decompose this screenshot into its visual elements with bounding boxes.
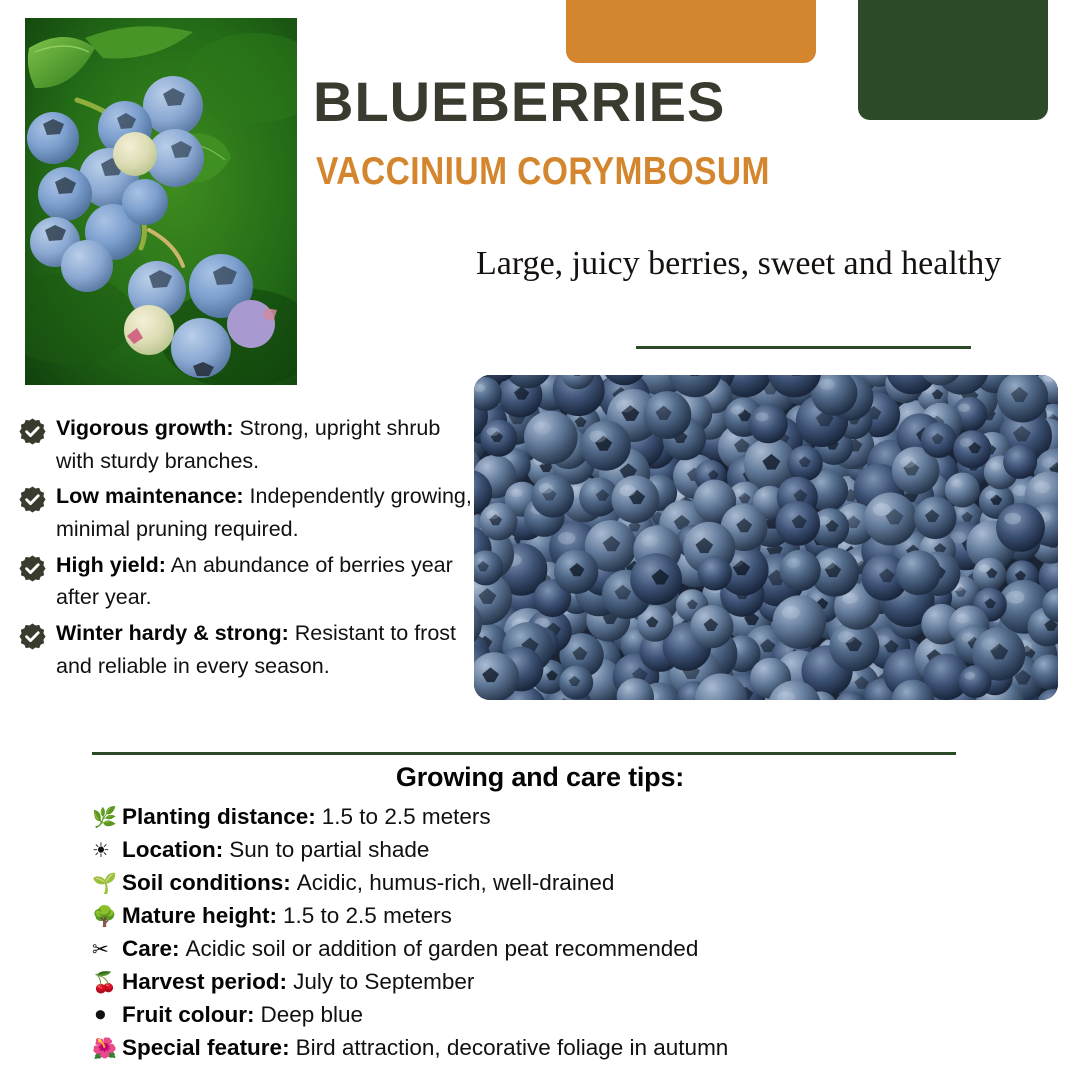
care-tip-label: Care: — [122, 932, 180, 965]
feature-item: Low maintenance: Independently growing, … — [18, 480, 480, 545]
check-badge-icon — [18, 417, 47, 446]
care-tip-item: ☀Location:Sun to partial shade — [92, 833, 1052, 866]
sun-icon: ☀ — [92, 836, 118, 865]
hero-blueberry-bush-photo — [25, 18, 297, 385]
scissors-icon: ✂ — [92, 935, 118, 964]
care-tip-value: July to September — [293, 965, 474, 998]
hibiscus-icon: 🌺 — [92, 1034, 118, 1063]
care-tip-item: 🍒Harvest period:July to September — [92, 965, 1052, 998]
divider-short — [636, 346, 971, 349]
black-circle-icon: ⚫ — [92, 1001, 118, 1030]
care-tip-item: 🌳Mature height:1.5 to 2.5 meters — [92, 899, 1052, 932]
care-tip-value: Deep blue — [260, 998, 363, 1031]
feature-text: Winter hardy & strong: Resistant to fros… — [56, 617, 480, 682]
feature-label: Low maintenance: — [56, 484, 244, 508]
check-badge-icon — [18, 554, 47, 583]
care-tip-item: ⚫Fruit colour:Deep blue — [92, 998, 1052, 1031]
feature-text: High yield: An abundance of berries year… — [56, 549, 480, 614]
care-tip-item: 🌿Planting distance:1.5 to 2.5 meters — [92, 800, 1052, 833]
care-tip-value: Sun to partial shade — [229, 833, 429, 866]
check-badge-icon — [18, 622, 47, 651]
care-tip-label: Mature height: — [122, 899, 277, 932]
berries-pile-photo — [474, 375, 1058, 700]
feature-item: High yield: An abundance of berries year… — [18, 549, 480, 614]
care-tip-label: Planting distance: — [122, 800, 316, 833]
seedling-icon: 🌱 — [92, 869, 118, 898]
herb-icon: 🌿 — [92, 803, 118, 832]
care-tip-label: Special feature: — [122, 1031, 290, 1064]
feature-text: Vigorous growth: Strong, upright shrub w… — [56, 412, 480, 477]
feature-item: Winter hardy & strong: Resistant to fros… — [18, 617, 480, 682]
feature-item: Vigorous growth: Strong, upright shrub w… — [18, 412, 480, 477]
feature-text: Low maintenance: Independently growing, … — [56, 480, 480, 545]
cherries-icon: 🍒 — [92, 968, 118, 997]
care-tip-item: 🌱Soil conditions:Acidic, humus-rich, wel… — [92, 866, 1052, 899]
decorative-green-block — [858, 0, 1048, 120]
tree-icon: 🌳 — [92, 902, 118, 931]
feature-label: Vigorous growth: — [56, 416, 234, 440]
latin-name-subtitle: VACCINIUM CORYMBOSUM — [316, 152, 770, 191]
care-tip-value: Bird attraction, decorative foliage in a… — [296, 1031, 729, 1064]
care-tip-value: 1.5 to 2.5 meters — [322, 800, 491, 833]
care-tip-value: Acidic soil or addition of garden peat r… — [186, 932, 699, 965]
care-tip-value: Acidic, humus-rich, well-drained — [297, 866, 615, 899]
tagline: Large, juicy berries, sweet and healthy — [476, 245, 1076, 283]
care-tip-label: Fruit colour: — [122, 998, 254, 1031]
decorative-orange-block — [566, 0, 816, 63]
divider-long — [92, 752, 956, 755]
care-tip-label: Soil conditions: — [122, 866, 291, 899]
care-tip-label: Location: — [122, 833, 223, 866]
feature-list: Vigorous growth: Strong, upright shrub w… — [18, 412, 480, 685]
page-title: BLUEBERRIES — [313, 74, 725, 130]
check-badge-icon — [18, 485, 47, 514]
poster-canvas: BLUEBERRIES VACCINIUM CORYMBOSUM Large, … — [0, 0, 1080, 1080]
care-tips-list: 🌿Planting distance:1.5 to 2.5 meters☀Loc… — [92, 800, 1052, 1065]
care-tip-item: ✂Care:Acidic soil or addition of garden … — [92, 932, 1052, 965]
care-tip-item: 🌺Special feature:Bird attraction, decora… — [92, 1031, 1052, 1064]
care-tip-value: 1.5 to 2.5 meters — [283, 899, 452, 932]
feature-label: Winter hardy & strong: — [56, 621, 289, 645]
care-tip-label: Harvest period: — [122, 965, 287, 998]
feature-label: High yield: — [56, 553, 166, 577]
care-section-heading: Growing and care tips: — [0, 762, 1080, 793]
